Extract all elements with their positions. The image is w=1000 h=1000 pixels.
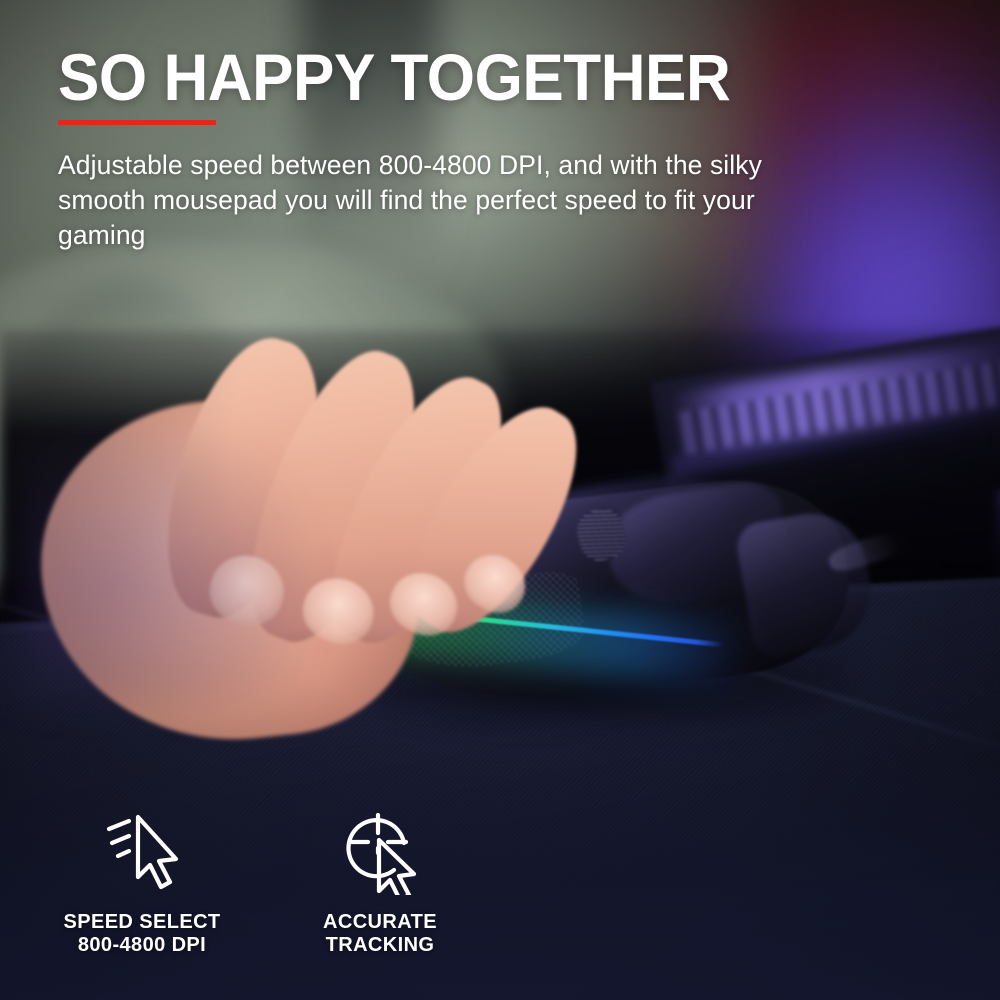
feature-tracking-line1: ACCURATE bbox=[323, 911, 437, 933]
feature-tracking-line2: TRACKING bbox=[323, 934, 437, 958]
crosshair-cursor-icon bbox=[334, 805, 426, 897]
accent-divider bbox=[58, 120, 216, 125]
feature-speed-line2: 800-4800 DPI bbox=[63, 934, 220, 958]
cursor-motion-icon bbox=[96, 805, 188, 897]
subheading-copy: Adjustable speed between 800-4800 DPI, a… bbox=[58, 148, 798, 254]
feature-tracking-label: ACCURATE TRACKING bbox=[323, 911, 437, 958]
feature-speed-line1: SPEED SELECT bbox=[63, 911, 220, 933]
feature-speed-select: SPEED SELECT 800-4800 DPI bbox=[32, 805, 252, 958]
feature-accurate-tracking: ACCURATE TRACKING bbox=[270, 805, 490, 958]
page-title: SO HAPPY TOGETHER bbox=[58, 44, 730, 110]
feature-badge-list: SPEED SELECT 800-4800 DPI ACCURATE TRACK… bbox=[32, 805, 490, 958]
marketing-banner: SO HAPPY TOGETHER Adjustable speed betwe… bbox=[0, 0, 1000, 1000]
feature-speed-select-label: SPEED SELECT 800-4800 DPI bbox=[63, 911, 220, 958]
